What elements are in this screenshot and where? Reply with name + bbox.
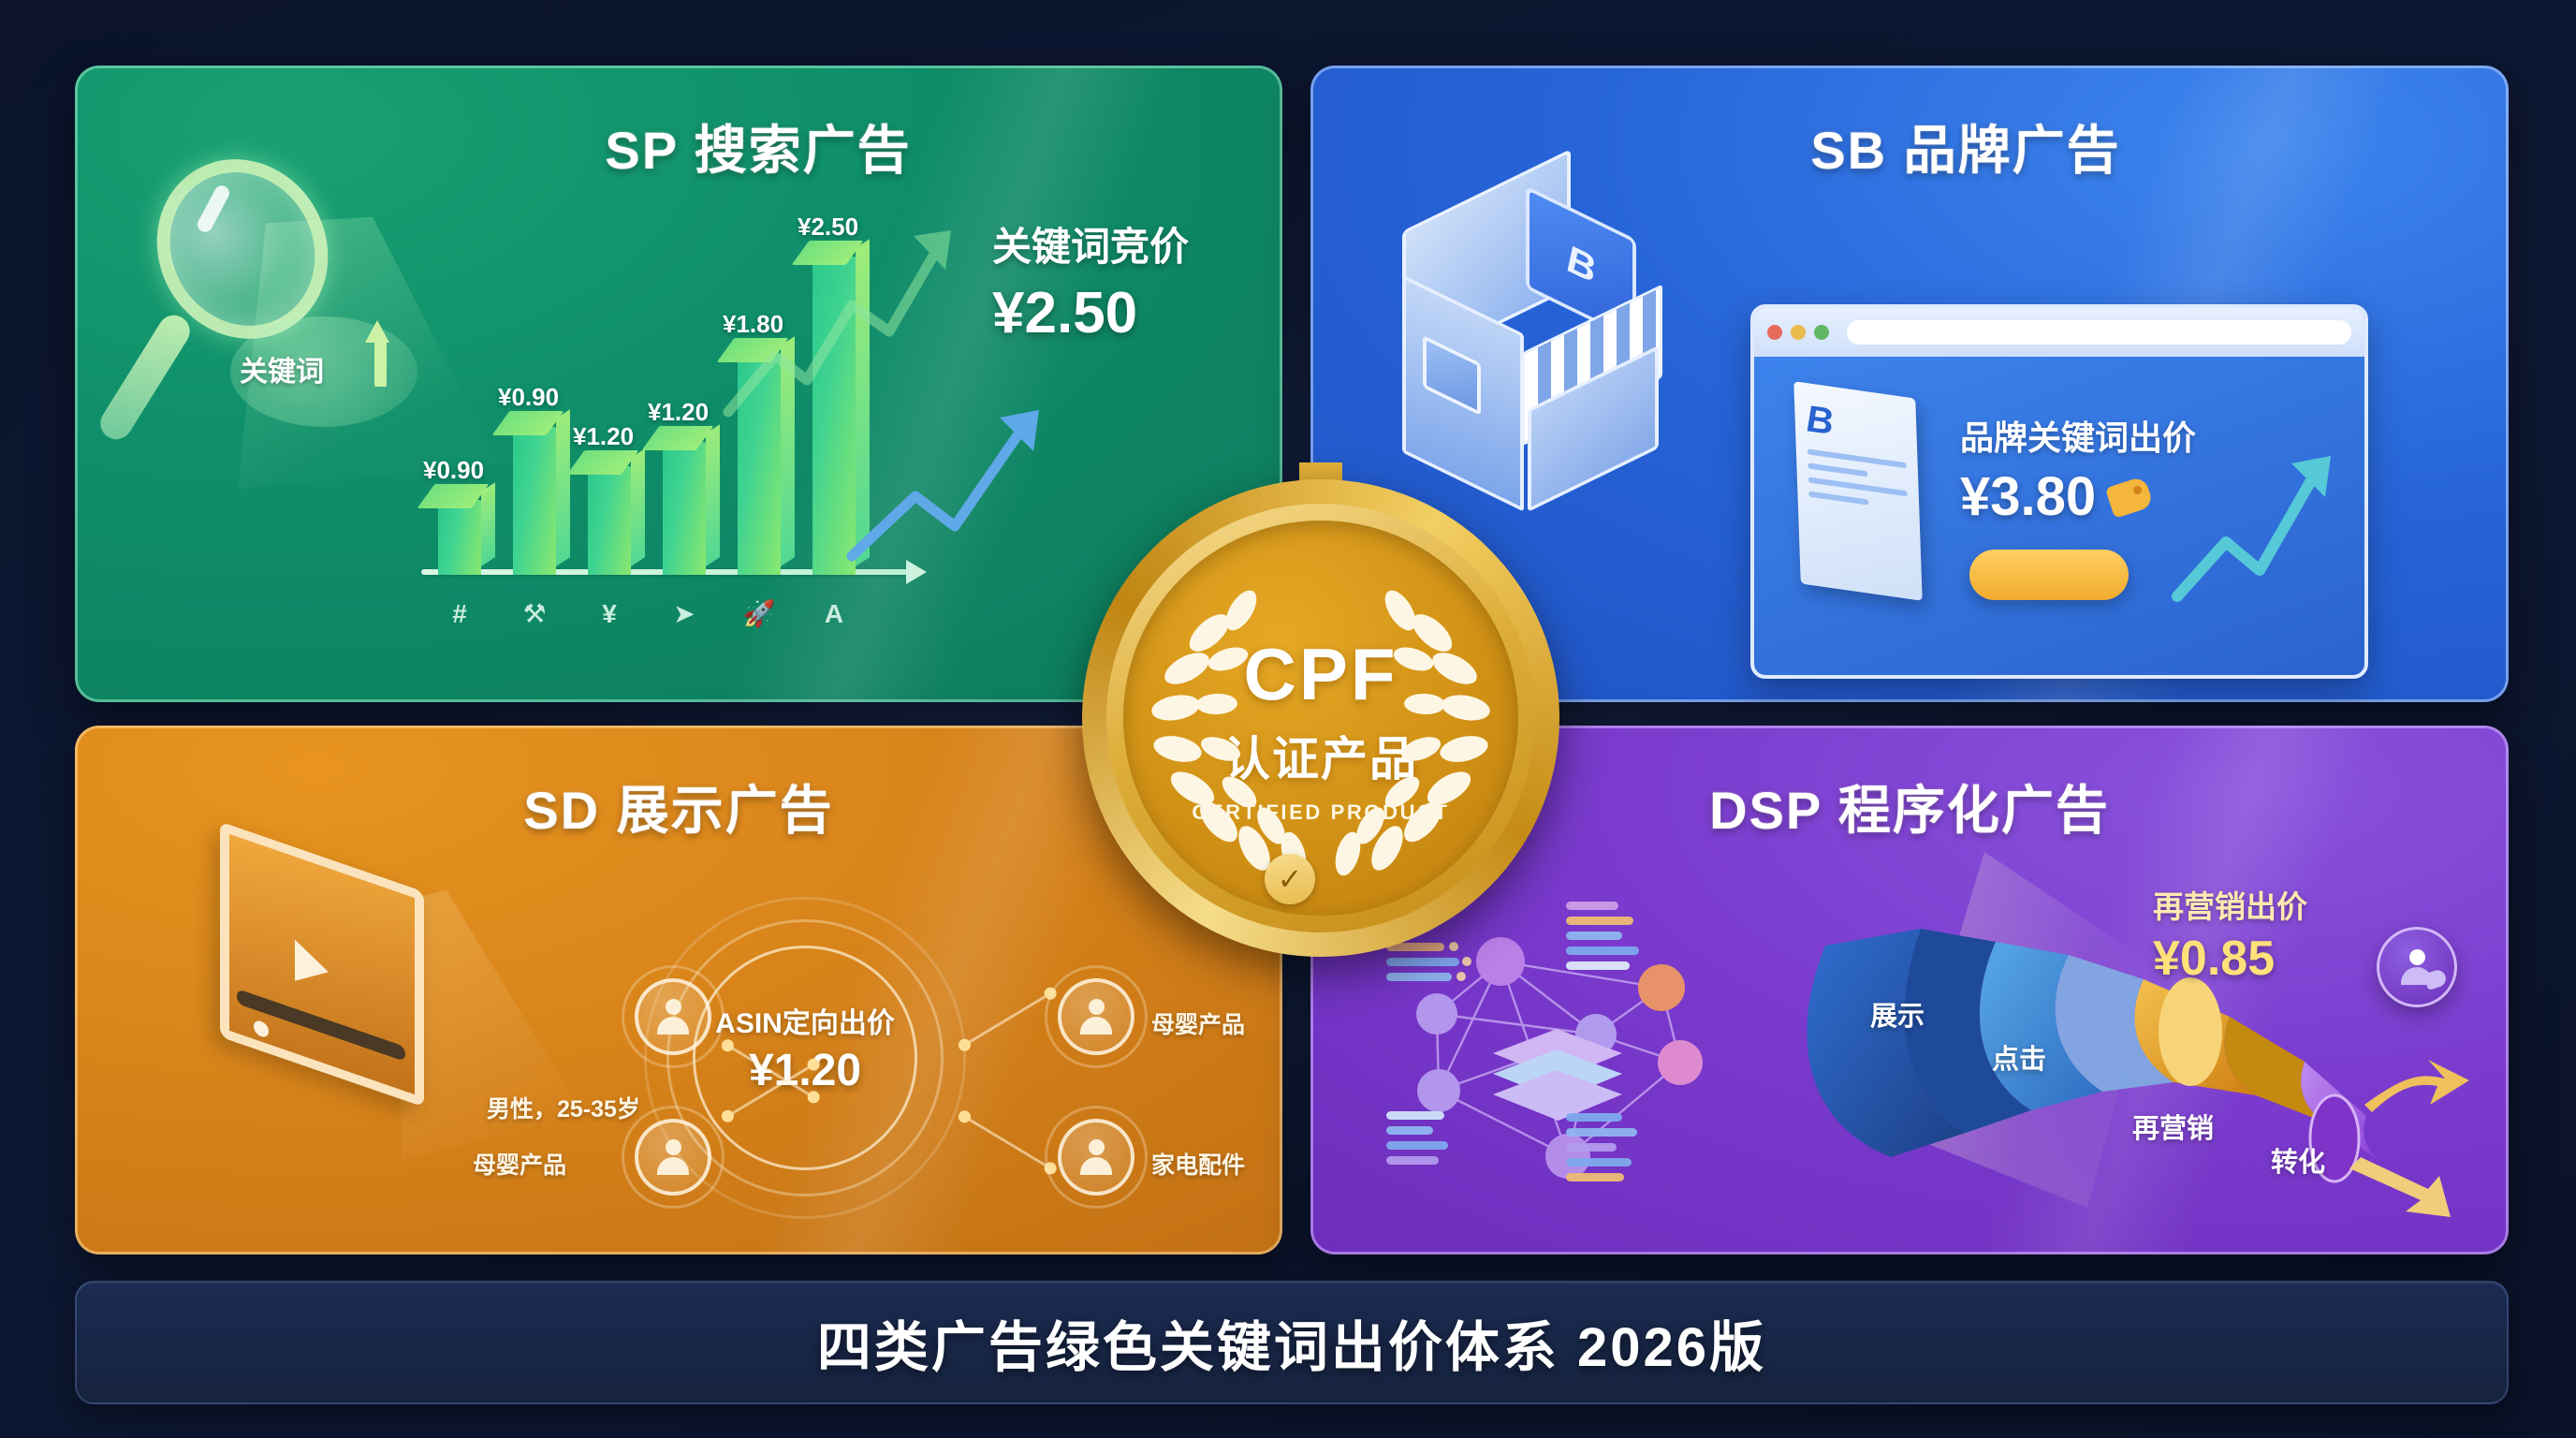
store-brand-mark: B xyxy=(1567,235,1595,294)
sp-bid-value: ¥2.50 xyxy=(992,280,1189,346)
funnel-shape xyxy=(1750,824,2490,1236)
person-head xyxy=(666,999,681,1015)
person-icon xyxy=(1080,999,1112,1034)
cpf-certified-badge[interactable]: CPF 认证产品 CERTIFIED PRODUCT xyxy=(1082,479,1559,957)
bar-4 xyxy=(663,442,706,575)
sb-cta-button[interactable] xyxy=(1969,550,2129,600)
dsp-bid-value: ¥0.85 xyxy=(2153,931,2307,987)
sb-bid-value: ¥3.80 xyxy=(1960,465,2096,528)
bar-3 xyxy=(588,466,631,575)
sp-bid-label: 关键词竞价 xyxy=(992,215,1189,272)
bar-side-face xyxy=(631,448,645,566)
browser-maximize-dot[interactable] xyxy=(1814,325,1829,340)
badge-chinese-label: 认证产品 xyxy=(1223,722,1418,789)
badge-english-label: CERTIFIED PRODUCT xyxy=(1192,800,1449,825)
keyword-up-arrow-stem xyxy=(374,342,387,387)
magnifier-icon: 关键词 xyxy=(120,140,429,449)
person-head xyxy=(666,1139,681,1155)
audience-node-3-label: 母婴产品 xyxy=(473,1147,566,1181)
growth-arrow-icon xyxy=(2170,437,2348,615)
funnel-stage-1: 展示 xyxy=(1870,994,1925,1034)
card-sp-title: SP 搜索广告 xyxy=(75,109,1282,184)
bar-1 xyxy=(438,500,481,575)
infographic-stage: SP 搜索广告 关键词 xyxy=(0,0,2576,1438)
bar-top-face xyxy=(492,411,564,435)
converted-user-icon xyxy=(2377,927,2457,1007)
sp-bid-callout: 关键词竞价 ¥2.50 xyxy=(992,215,1189,346)
browser-address-bar[interactable] xyxy=(1847,320,2351,345)
person-head xyxy=(1089,1139,1105,1155)
badge-inner-face: CPF 认证产品 CERTIFIED PRODUCT xyxy=(1123,521,1518,916)
person-icon xyxy=(657,999,689,1034)
dsp-bid-label: 再营销出价 xyxy=(2153,882,2307,927)
funnel-stage-2: 点击 xyxy=(1992,1037,2046,1077)
display-glow xyxy=(398,890,585,1171)
card-sb-title: SB 品牌广告 xyxy=(1310,109,2509,184)
bar-2 xyxy=(513,427,556,575)
person-head xyxy=(1089,999,1105,1015)
axis-tick-6: A xyxy=(812,599,856,629)
sb-bid-row: ¥3.80 xyxy=(1960,465,2196,528)
bar-side-face xyxy=(556,409,570,566)
person-head xyxy=(2409,949,2425,965)
axis-tick-5: 🚀 xyxy=(738,598,781,629)
audience-node-4[interactable] xyxy=(1058,1119,1134,1196)
bar-label-3: ¥1.20 xyxy=(573,422,634,451)
asin-bid-label: ASIN定向出价 xyxy=(704,1000,906,1041)
audience-node-1[interactable] xyxy=(635,978,711,1055)
badge-check-icon: ✓ xyxy=(1265,854,1315,904)
person-torso xyxy=(1080,1017,1112,1034)
spoke-top-right xyxy=(963,992,1051,1047)
magnifier-handle xyxy=(95,309,196,445)
bar-top-face xyxy=(567,450,639,475)
document-line xyxy=(1808,462,1867,477)
browser-minimize-dot[interactable] xyxy=(1791,325,1806,340)
audience-node-4-label: 家电配件 xyxy=(1151,1147,1245,1181)
person-icon xyxy=(657,1139,689,1175)
node-disc xyxy=(635,1119,711,1196)
document-line xyxy=(1808,492,1868,506)
bar-side-face xyxy=(706,424,720,566)
funnel-stage-3: 再营销 xyxy=(2132,1107,2214,1146)
funnel-stage-4: 转化 xyxy=(2271,1140,2325,1180)
axis-tick-3: ¥ xyxy=(588,599,631,629)
person-torso xyxy=(657,1157,689,1175)
footer-banner: 四类广告绿色关键词出价体系 2026版 xyxy=(75,1281,2509,1404)
brand-ad-document: B xyxy=(1793,381,1922,601)
bar-top-face xyxy=(417,484,490,508)
sp-bid-bar-chart: ¥0.90 ¥0.90 ¥1.20 ¥1.20 ¥1.80 ¥2.50 # ⚒ … xyxy=(421,178,945,665)
bar-label-1: ¥0.90 xyxy=(423,456,484,485)
audience-node-2-label: 母婴产品 xyxy=(1151,1006,1245,1040)
spoke-bottom-right xyxy=(963,1115,1051,1169)
axis-tick-2: ⚒ xyxy=(513,598,556,629)
bar-side-face xyxy=(481,482,495,566)
browser-titlebar xyxy=(1754,308,2364,357)
bar-label-2: ¥0.90 xyxy=(498,383,559,412)
storefront-icon: B xyxy=(1385,164,1694,473)
keyword-bubble-label: 关键词 xyxy=(240,348,324,389)
audience-node-3[interactable] xyxy=(635,1119,711,1196)
video-display-icon xyxy=(164,847,463,1128)
footer-title: 四类广告绿色关键词出价体系 2026版 xyxy=(817,1303,1766,1382)
person-torso xyxy=(1080,1157,1112,1175)
bar-top-face xyxy=(642,426,714,450)
person-torso xyxy=(657,1017,689,1034)
sb-bid-label: 品牌关键词出价 xyxy=(1960,411,2196,460)
sb-bid-callout: 品牌关键词出价 ¥3.80 xyxy=(1960,411,2196,528)
audience-node-1-label: 男性，25-35岁 xyxy=(487,1091,640,1124)
browser-window[interactable]: B 品牌关键词出价 ¥3.80 xyxy=(1750,304,2368,679)
browser-close-dot[interactable] xyxy=(1767,325,1782,340)
badge-acronym: CPF xyxy=(1244,638,1398,711)
axis-tick-1: # xyxy=(438,599,481,629)
dsp-bid-callout: 再营销出价 ¥0.85 xyxy=(2153,882,2307,987)
badge-check-glyph: ✓ xyxy=(1278,864,1303,894)
person-icon xyxy=(1080,1139,1112,1175)
node-disc xyxy=(635,978,711,1055)
axis-tick-4: ➤ xyxy=(663,598,706,629)
bar-label-4: ¥1.20 xyxy=(648,398,709,427)
conversion-funnel-diagram: 展示 点击 再营销 转化 再营销出价 ¥0.85 xyxy=(1750,824,2490,1236)
document-brand-mark: B xyxy=(1806,398,1907,454)
trend-arrow-blue-icon xyxy=(842,384,1058,571)
audience-node-2[interactable] xyxy=(1058,978,1134,1055)
keyword-up-arrow-icon xyxy=(365,320,389,343)
price-tag-icon xyxy=(2105,476,2154,519)
node-disc xyxy=(1058,1119,1134,1196)
node-disc xyxy=(1058,978,1134,1055)
